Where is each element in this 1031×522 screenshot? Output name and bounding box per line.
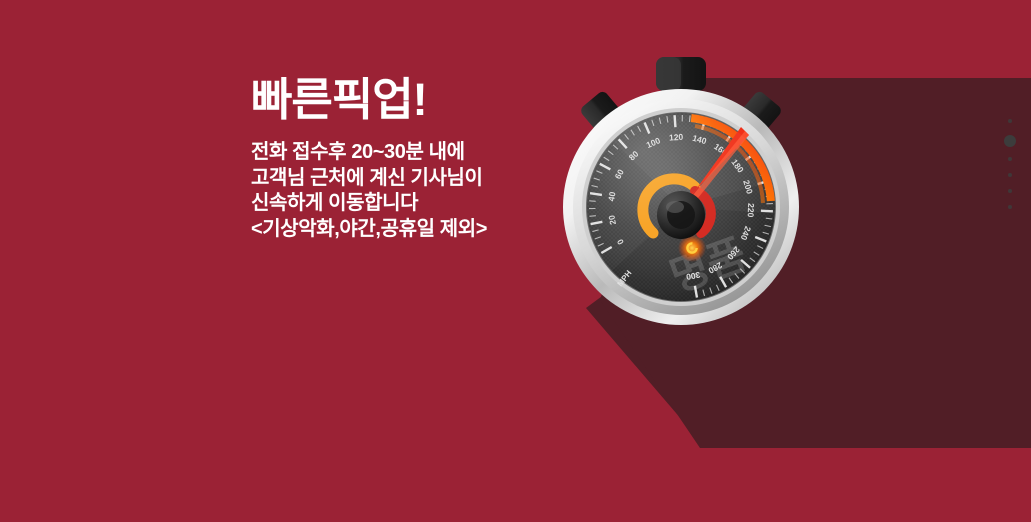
pagination-dot-1[interactable] (1008, 119, 1012, 123)
body-line-2: 고객님 근처에 계신 기사님이 (251, 166, 551, 192)
page-title: 빠른픽업! (251, 76, 551, 123)
stopwatch-speedometer-icon: 0204060801001201401601802002202402602803… (545, 55, 817, 327)
pagination-dot-3[interactable] (1008, 157, 1012, 161)
pagination-dot-2[interactable] (1004, 135, 1016, 147)
body-line-3: 신속하게 이동합니다 (251, 191, 551, 217)
pagination-dot-5[interactable] (1008, 189, 1012, 193)
slide-pagination[interactable] (1000, 119, 1020, 209)
body-line-1: 전화 접수후 20~30분 내에 (251, 140, 551, 166)
body-line-4: <기상악화,야간,공휴일 제외> (251, 217, 551, 243)
body-copy: 전화 접수후 20~30분 내에 고객님 근처에 계신 기사님이 신속하게 이동… (251, 140, 551, 242)
pagination-dot-4[interactable] (1008, 173, 1012, 177)
stopwatch-illustration: 0204060801001201401601802002202402602803… (545, 55, 817, 327)
dial-glass (587, 113, 775, 301)
pagination-dot-6[interactable] (1008, 205, 1012, 209)
promo-banner: 빠른픽업! 전화 접수후 20~30분 내에 고객님 근처에 계신 기사님이 신… (0, 0, 1031, 522)
copy-block: 빠른픽업! 전화 접수후 20~30분 내에 고객님 근처에 계신 기사님이 신… (251, 76, 551, 242)
